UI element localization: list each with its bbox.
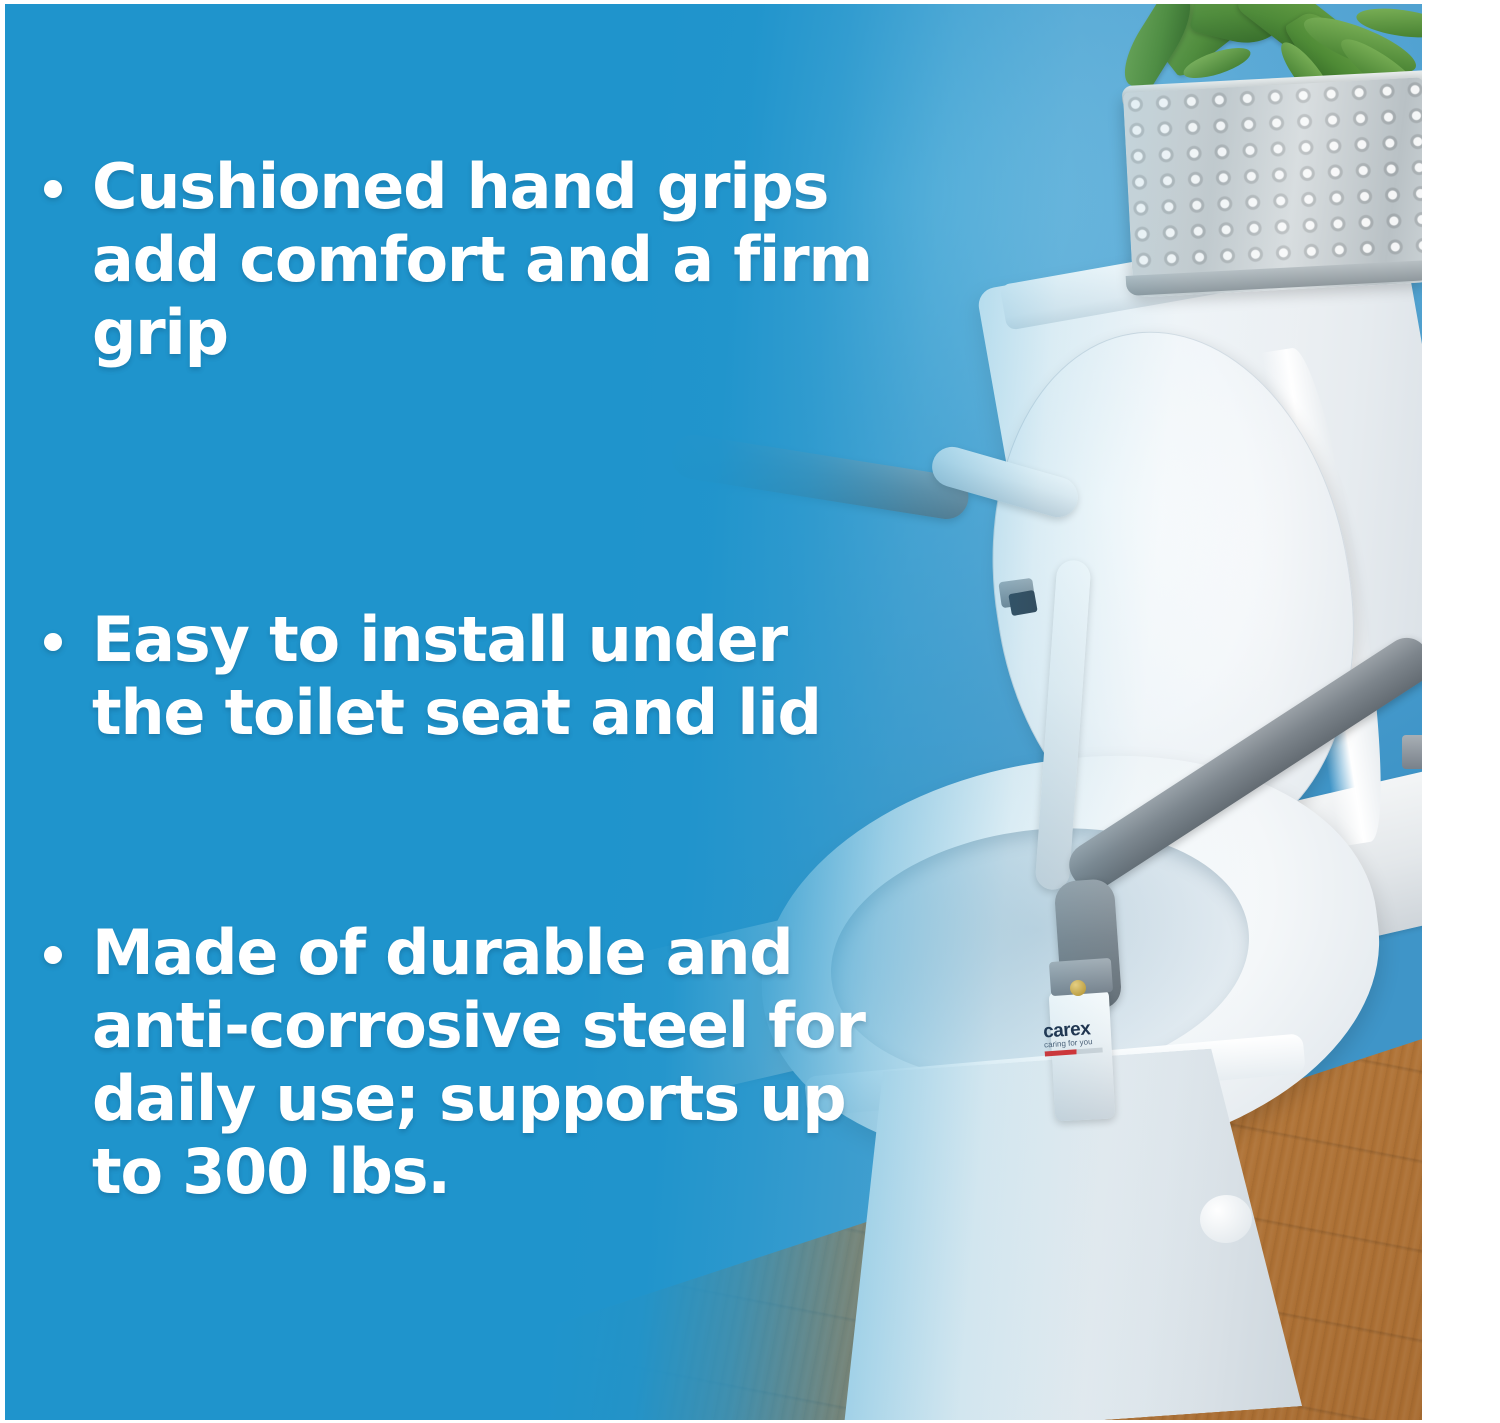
frame-edge-right xyxy=(1422,0,1500,1423)
blue-overlay-panel xyxy=(0,0,1422,1423)
frame-edge-left xyxy=(0,0,5,1423)
frame-edge-top xyxy=(0,0,1500,4)
product-feature-graphic: carex caring for you Cushioned hand grip… xyxy=(0,0,1500,1423)
